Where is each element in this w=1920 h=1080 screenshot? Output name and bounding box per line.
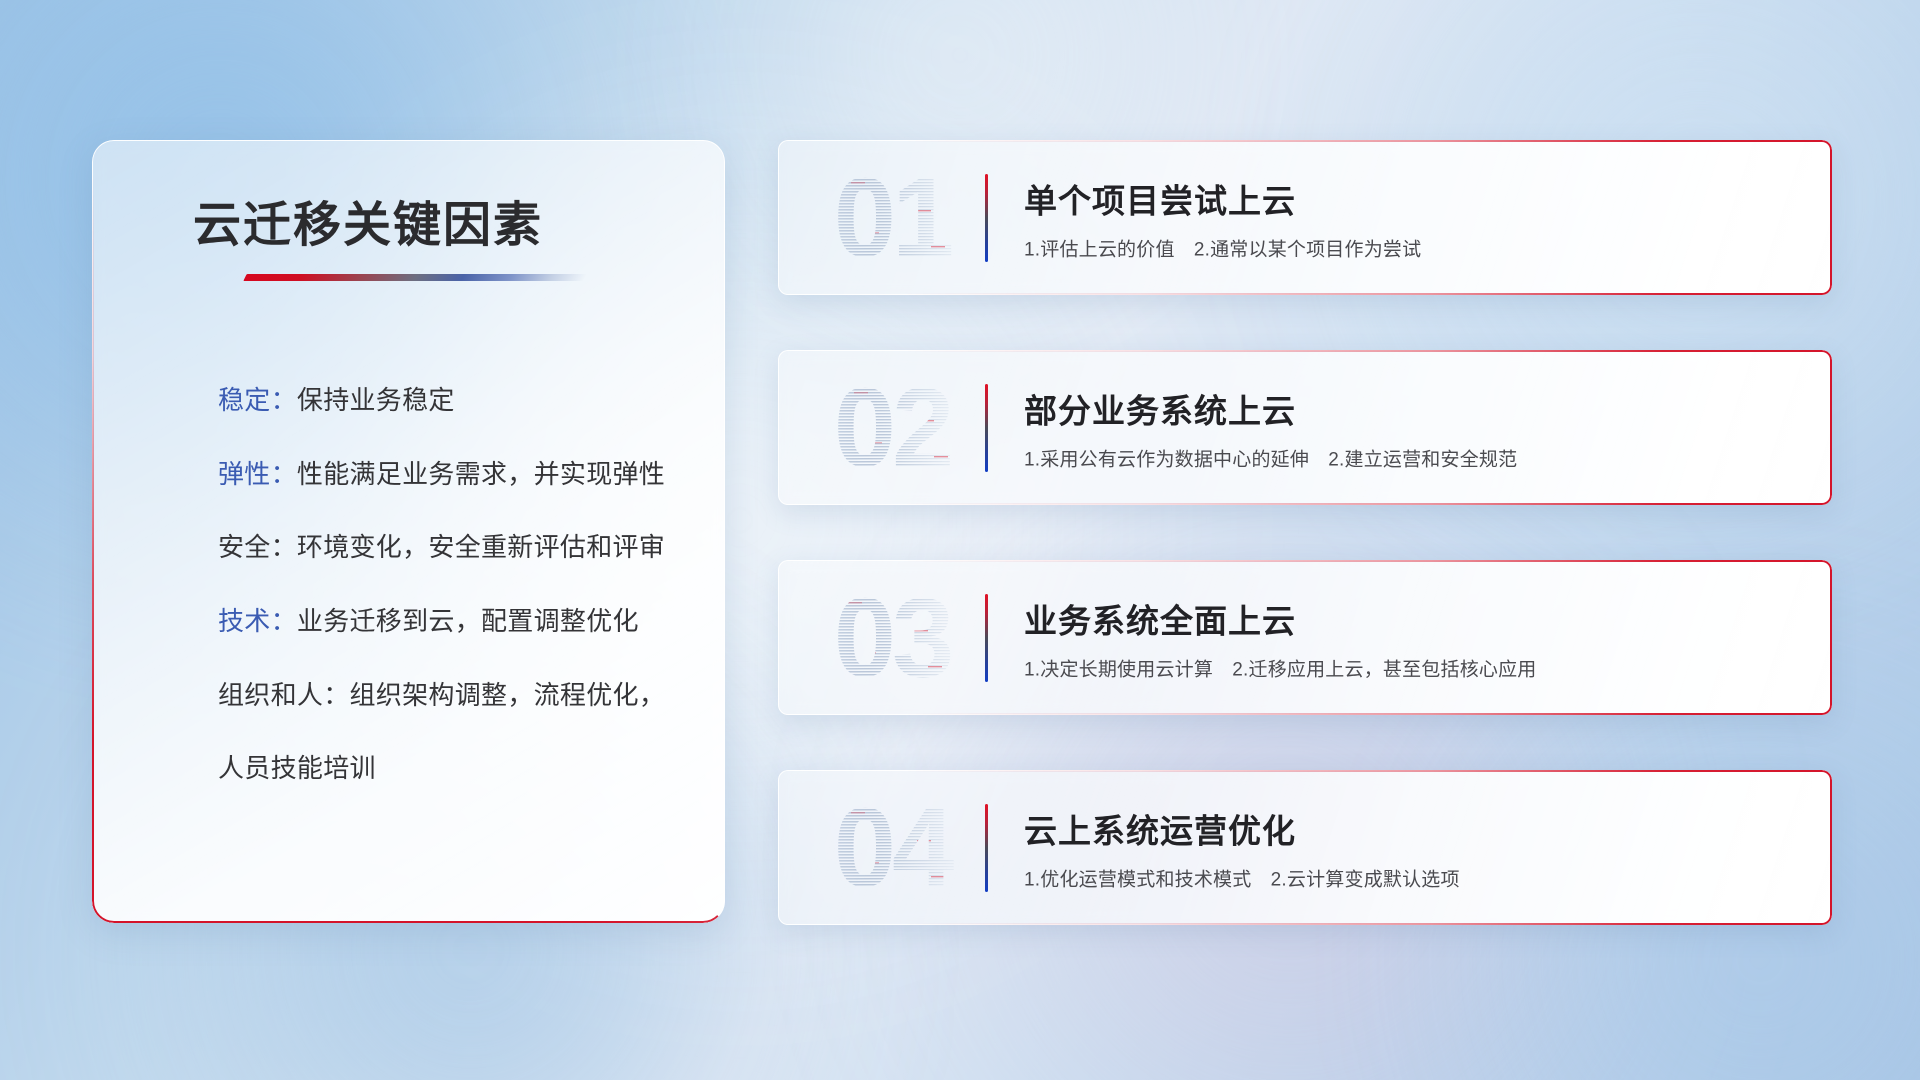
stage-card[interactable]: 01单个项目尝试上云1.评估上云的价值 2.通常以某个项目作为尝试 [778,140,1832,295]
card-divider [985,384,988,472]
card-divider [985,174,988,262]
card-subtitle: 1.采用公有云作为数据中心的延伸 2.建立运营和安全规范 [1024,444,1517,471]
page-title: 云迁移关键因素 [193,185,543,255]
stage-number: 03 [818,578,966,698]
card-heading: 业务系统全面上云 [1024,594,1537,642]
card-heading: 单个项目尝试上云 [1024,174,1421,222]
key-factor-text: 人员技能培训 [218,753,376,783]
card-subtitle: 1.决定长期使用云计算 2.迁移应用上云，甚至包括核心应用 [1024,654,1537,681]
key-factor-item: 稳定：保持业务稳定 [218,382,685,420]
key-factor-label: 技术： [218,606,297,636]
key-factors-list: 稳定：保持业务稳定弹性：性能满足业务需求，并实现弹性安全：环境变化，安全重新评估… [218,382,685,788]
key-factor-item: 人员技能培训 [218,750,685,788]
key-factor-text: 环境变化，安全重新评估和评审 [297,532,665,562]
stage-card[interactable]: 02部分业务系统上云1.采用公有云作为数据中心的延伸 2.建立运营和安全规范 [778,350,1832,505]
stage-number: 02 [818,368,966,488]
card-divider [985,594,988,682]
striped-number-graphic: 01 [818,158,966,278]
key-factor-label: 弹性： [218,459,297,489]
key-factor-text: 性能满足业务需求，并实现弹性 [297,459,665,489]
striped-number-graphic: 02 [818,368,966,488]
key-factor-item: 弹性：性能满足业务需求，并实现弹性 [218,456,685,494]
stage-card[interactable]: 04云上系统运营优化1.优化运营模式和技术模式 2.云计算变成默认选项 [778,770,1832,925]
striped-number-graphic: 03 [818,578,966,698]
key-factor-item: 技术：业务迁移到云，配置调整优化 [218,603,685,641]
card-subtitle: 1.优化运营模式和技术模式 2.云计算变成默认选项 [1024,864,1460,891]
key-factor-text: 业务迁移到云，配置调整优化 [297,606,639,636]
stage-number: 01 [818,158,966,278]
slide-stage: 云迁移关键因素 稳定：保持业务稳定弹性：性能满足业务需求，并实现弹性安全：环境变… [0,0,1920,1080]
key-factor-label: 安全： [218,532,297,562]
card-body: 业务系统全面上云1.决定长期使用云计算 2.迁移应用上云，甚至包括核心应用 [1024,594,1537,681]
key-factor-label: 稳定： [218,385,297,415]
card-heading: 部分业务系统上云 [1024,384,1517,432]
key-factor-item: 组织和人：组织架构调整，流程优化， [218,677,685,715]
stage-number: 04 [818,788,966,908]
card-body: 部分业务系统上云1.采用公有云作为数据中心的延伸 2.建立运营和安全规范 [1024,384,1517,471]
key-factors-panel: 云迁移关键因素 稳定：保持业务稳定弹性：性能满足业务需求，并实现弹性安全：环境变… [92,140,725,923]
striped-number-graphic: 04 [818,788,966,908]
card-subtitle: 1.评估上云的价值 2.通常以某个项目作为尝试 [1024,234,1421,261]
key-factor-text: 组织架构调整，流程优化， [350,680,666,710]
card-heading: 云上系统运营优化 [1024,804,1460,852]
key-factor-item: 安全：环境变化，安全重新评估和评审 [218,529,685,567]
card-body: 单个项目尝试上云1.评估上云的价值 2.通常以某个项目作为尝试 [1024,174,1421,261]
card-divider [985,804,988,892]
key-factor-label: 组织和人： [218,680,350,710]
title-underline-rule [243,274,586,281]
key-factor-text: 保持业务稳定 [297,385,455,415]
stage-card[interactable]: 03业务系统全面上云1.决定长期使用云计算 2.迁移应用上云，甚至包括核心应用 [778,560,1832,715]
card-body: 云上系统运营优化1.优化运营模式和技术模式 2.云计算变成默认选项 [1024,804,1460,891]
